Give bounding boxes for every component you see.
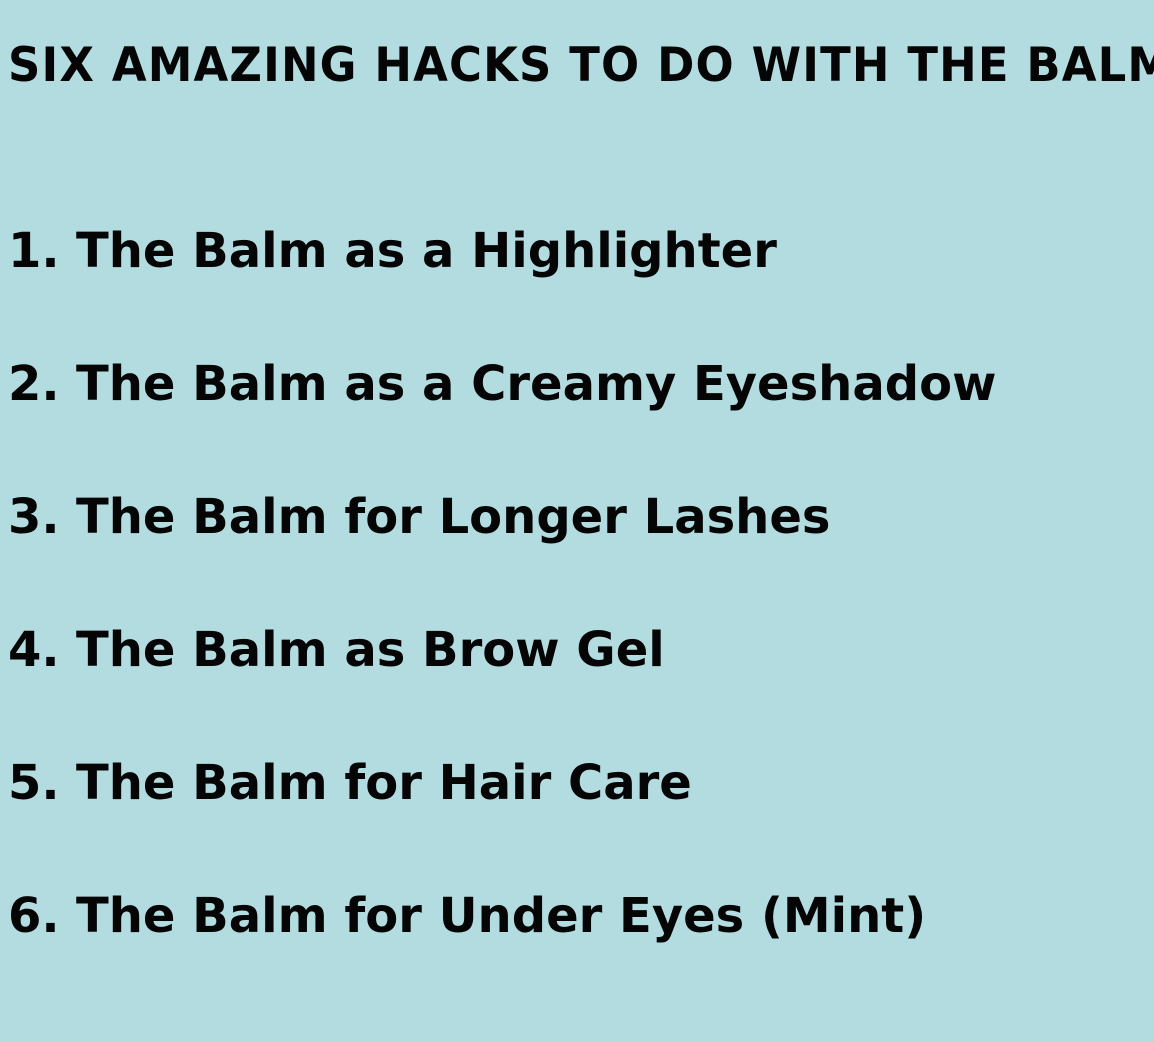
- list-item: 6. The Balm for Under Eyes (Mint): [8, 887, 1148, 1020]
- page-title: SIX AMAZING HACKS TO DO WITH THE BALM:: [8, 36, 1102, 102]
- list-item-number: 3.: [8, 488, 76, 546]
- list-item-label: The Balm as Brow Gel: [76, 621, 665, 679]
- list-item-label: The Balm as a Highlighter: [76, 222, 777, 280]
- list-item-label: The Balm for Hair Care: [76, 754, 692, 812]
- list-item: 3. The Balm for Longer Lashes: [8, 488, 1148, 621]
- list-item-number: 4.: [8, 621, 76, 679]
- list-item: 5. The Balm for Hair Care: [8, 754, 1148, 887]
- list-item-number: 2.: [8, 355, 76, 413]
- list-item-number: 1.: [8, 222, 76, 280]
- list-item-number: 5.: [8, 754, 76, 812]
- list-item-number: 6.: [8, 887, 76, 945]
- list-item: 2. The Balm as a Creamy Eyeshadow: [8, 355, 1148, 488]
- list-item-label: The Balm for Under Eyes (Mint): [76, 887, 926, 945]
- slide-canvas: SIX AMAZING HACKS TO DO WITH THE BALM: 1…: [0, 0, 1154, 1042]
- list-item-label: The Balm as a Creamy Eyeshadow: [76, 355, 996, 413]
- hacks-list: 1. The Balm as a Highlighter 2. The Balm…: [8, 222, 1148, 1020]
- list-item-label: The Balm for Longer Lashes: [76, 488, 830, 546]
- list-item: 1. The Balm as a Highlighter: [8, 222, 1148, 355]
- list-item: 4. The Balm as Brow Gel: [8, 621, 1148, 754]
